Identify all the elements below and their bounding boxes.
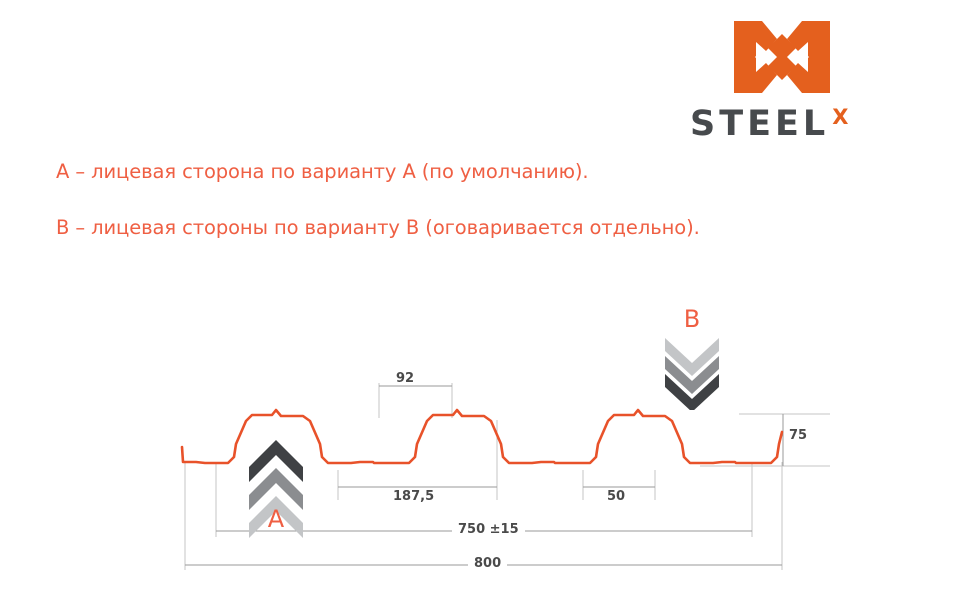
facing-marker-b [661, 338, 723, 410]
profile-technical-drawing [0, 0, 970, 597]
dimension-label-overall-width: 800 [468, 556, 507, 571]
facing-marker-a-label: A [245, 505, 307, 533]
chevron-down-stack-icon [661, 338, 723, 410]
dimension-label-rib-top-width: 92 [396, 371, 414, 386]
dimension-label-valley-width: 50 [607, 489, 625, 504]
dimension-label-rib-pitch: 187,5 [393, 489, 434, 504]
facing-marker-b-label: B [661, 305, 723, 333]
dimension-label-effective-width: 750 ±15 [452, 522, 525, 537]
dimension-label-profile-height: 75 [789, 428, 807, 443]
